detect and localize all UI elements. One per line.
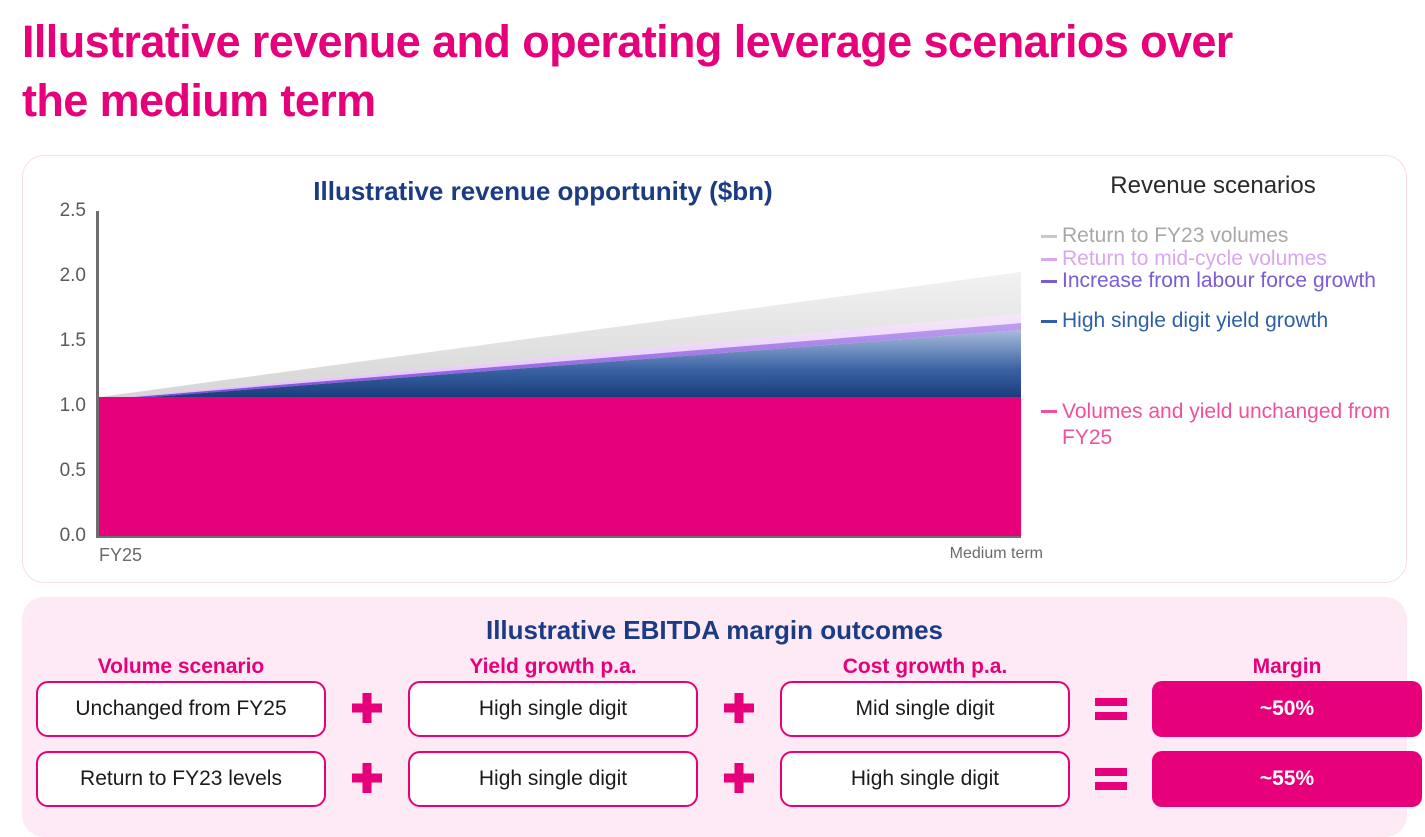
legend-label: Return to FY23 volumes — [1062, 224, 1288, 248]
cell-margin-result: ~55% — [1152, 751, 1422, 807]
legend-item-return-to-mid-cycle-volumes[interactable]: Return to mid-cycle volumes — [1041, 247, 1327, 271]
cell-cost-growth[interactable]: High single digit — [780, 751, 1070, 807]
legend-label: High single digit yield growth — [1062, 309, 1328, 333]
revenue-chart-card: Illustrative revenue opportunity ($bn) R… — [22, 155, 1407, 583]
legend-label: Return to mid-cycle volumes — [1062, 247, 1327, 271]
cell-cost-growth[interactable]: Mid single digit — [780, 681, 1070, 737]
plus-icon — [708, 681, 770, 737]
legend-dash-icon — [1041, 280, 1057, 283]
area-chart-svg — [99, 211, 1021, 536]
column-header-cost-growth: Cost growth p.a. — [780, 655, 1070, 679]
y-tick-4: 2.0 — [60, 265, 86, 287]
y-tick-2: 1.0 — [60, 395, 86, 417]
column-header-margin: Margin — [1152, 655, 1422, 679]
column-header-yield-growth: Yield growth p.a. — [408, 655, 698, 679]
equals-icon — [1080, 681, 1142, 737]
ebitda-column-headers: Volume scenario Yield growth p.a. Cost g… — [36, 655, 1393, 679]
cell-volume-scenario[interactable]: Unchanged from FY25 — [36, 681, 326, 737]
chart-legend: Return to FY23 volumes Return to mid-cyc… — [1023, 211, 1423, 536]
table-row: Return to FY23 levels High single digit … — [36, 751, 1393, 807]
legend-dash-icon — [1041, 320, 1057, 323]
ebitda-matrix: Volume scenario Yield growth p.a. Cost g… — [36, 655, 1393, 821]
cell-yield-growth[interactable]: High single digit — [408, 681, 698, 737]
plus-icon — [336, 751, 398, 807]
stacked-area-bands — [99, 211, 1021, 536]
revenue-area-plot: 0.0 0.5 1.0 1.5 2.0 2.5 — [96, 211, 1021, 536]
y-tick-5: 2.5 — [60, 200, 86, 222]
ebitda-margin-panel: Illustrative EBITDA margin outcomes Volu… — [22, 597, 1407, 837]
x-tick-fy25: FY25 — [99, 545, 142, 566]
y-tick-1: 0.5 — [60, 460, 86, 482]
cell-yield-growth[interactable]: High single digit — [408, 751, 698, 807]
legend-item-high-single-digit-yield-growth[interactable]: High single digit yield growth — [1041, 309, 1328, 333]
equals-icon — [1080, 751, 1142, 807]
cell-margin-result: ~50% — [1152, 681, 1422, 737]
y-tick-0: 0.0 — [60, 525, 86, 547]
column-header-volume-scenario: Volume scenario — [36, 655, 326, 679]
plus-icon — [708, 751, 770, 807]
cell-volume-scenario[interactable]: Return to FY23 levels — [36, 751, 326, 807]
revenue-scenarios-heading: Revenue scenarios — [1033, 172, 1393, 200]
legend-item-return-to-fy23-volumes[interactable]: Return to FY23 volumes — [1041, 224, 1288, 248]
legend-item-increase-from-labour-force-growth[interactable]: Increase from labour force growth — [1041, 269, 1376, 293]
legend-label: Increase from labour force growth — [1062, 269, 1376, 293]
legend-label: Volumes and yield unchanged from FY25 — [1062, 399, 1392, 450]
legend-dash-icon — [1041, 235, 1057, 238]
legend-dash-icon — [1041, 410, 1057, 413]
table-row: Unchanged from FY25 High single digit Mi… — [36, 681, 1393, 737]
legend-item-volumes-and-yield-unchanged[interactable]: Volumes and yield unchanged from FY25 — [1041, 399, 1392, 450]
plus-icon — [336, 681, 398, 737]
x-tick-medium-term: Medium term — [950, 545, 1043, 563]
chart-title: Illustrative revenue opportunity ($bn) — [73, 176, 1013, 207]
y-tick-3: 1.5 — [60, 330, 86, 352]
page-title: Illustrative revenue and operating lever… — [22, 12, 1272, 131]
slide-root: Illustrative revenue and operating lever… — [0, 0, 1425, 837]
ebitda-panel-title: Illustrative EBITDA margin outcomes — [22, 615, 1407, 646]
legend-dash-icon — [1041, 258, 1057, 261]
